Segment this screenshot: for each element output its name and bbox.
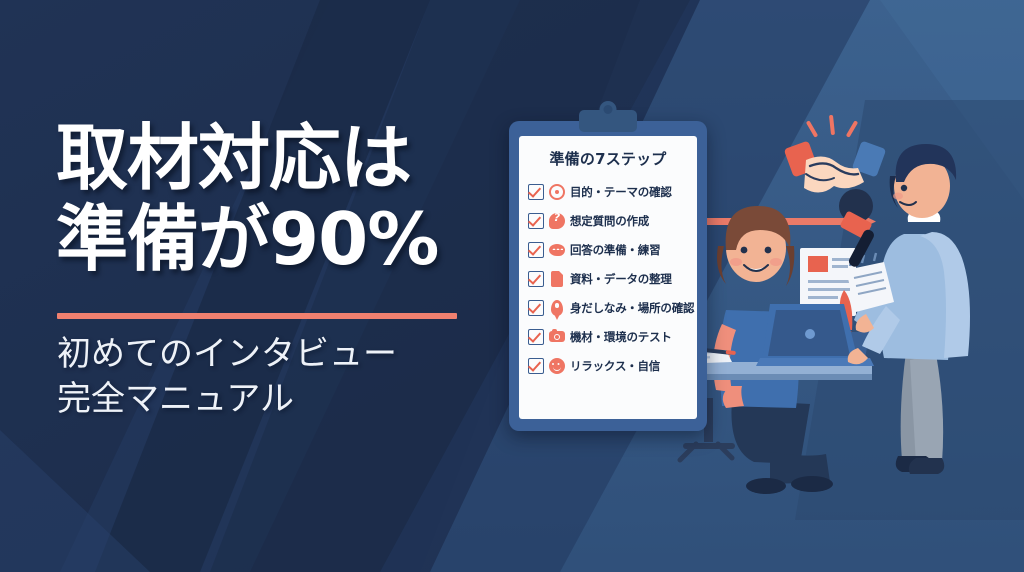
document-icon	[549, 271, 565, 287]
headline-line-2: 準備が90%	[56, 199, 486, 280]
checklist-item[interactable]: 機材・環境のテスト	[528, 322, 692, 351]
page-subtitle: 初めてのインタビュー 完全マニュアル	[57, 332, 487, 422]
camera-icon	[549, 329, 565, 345]
chat-bubble-icon	[549, 242, 565, 258]
checklist-title: 準備の7ステップ	[519, 148, 697, 169]
location-pin-icon	[549, 300, 565, 316]
accent-divider	[57, 313, 457, 319]
headline-line-1: 取材対応は	[56, 118, 486, 199]
checkbox-checked-icon[interactable]	[528, 271, 544, 287]
checklist-item[interactable]: 身だしなみ・場所の確認	[528, 293, 692, 322]
checklist-item[interactable]: 想定質問の作成	[528, 206, 692, 235]
checklist-item-label: 資料・データの整理	[570, 271, 672, 287]
checklist-clipboard: 準備の7ステップ 目的・テーマの確認 想定質問の作成 回答の準備・練習	[509, 121, 707, 431]
target-icon	[549, 184, 565, 200]
checklist-item[interactable]: リラックス・自信	[528, 351, 692, 380]
checklist-item-label: 機材・環境のテスト	[570, 329, 672, 345]
checkbox-checked-icon[interactable]	[528, 184, 544, 200]
checklist: 目的・テーマの確認 想定質問の作成 回答の準備・練習 資料・データの整理	[528, 177, 692, 380]
subtitle-line-2: 完全マニュアル	[57, 377, 487, 422]
checklist-item-label: 身だしなみ・場所の確認	[570, 300, 694, 316]
clipboard-paper: 準備の7ステップ 目的・テーマの確認 想定質問の作成 回答の準備・練習	[519, 136, 697, 419]
checkbox-checked-icon[interactable]	[528, 242, 544, 258]
checklist-item[interactable]: 資料・データの整理	[528, 264, 692, 293]
interview-illustration	[660, 100, 1024, 520]
checkbox-checked-icon[interactable]	[528, 300, 544, 316]
poster-canvas: 取材対応は 準備が90% 初めてのインタビュー 完全マニュアル	[0, 0, 1024, 572]
checklist-item-label: 回答の準備・練習	[570, 242, 660, 258]
checklist-item-label: 目的・テーマの確認	[570, 184, 672, 200]
checklist-item-label: リラックス・自信	[570, 358, 660, 374]
checklist-item-label: 想定質問の作成	[570, 213, 649, 229]
smiley-icon	[549, 358, 565, 374]
subtitle-line-1: 初めてのインタビュー	[57, 332, 487, 377]
page-title: 取材対応は 準備が90%	[56, 118, 486, 281]
checklist-item[interactable]: 目的・テーマの確認	[528, 177, 692, 206]
question-icon	[549, 213, 565, 229]
checkbox-checked-icon[interactable]	[528, 213, 544, 229]
checkbox-checked-icon[interactable]	[528, 329, 544, 345]
checkbox-checked-icon[interactable]	[528, 358, 544, 374]
clipboard-clip-icon	[579, 110, 637, 132]
checklist-item[interactable]: 回答の準備・練習	[528, 235, 692, 264]
